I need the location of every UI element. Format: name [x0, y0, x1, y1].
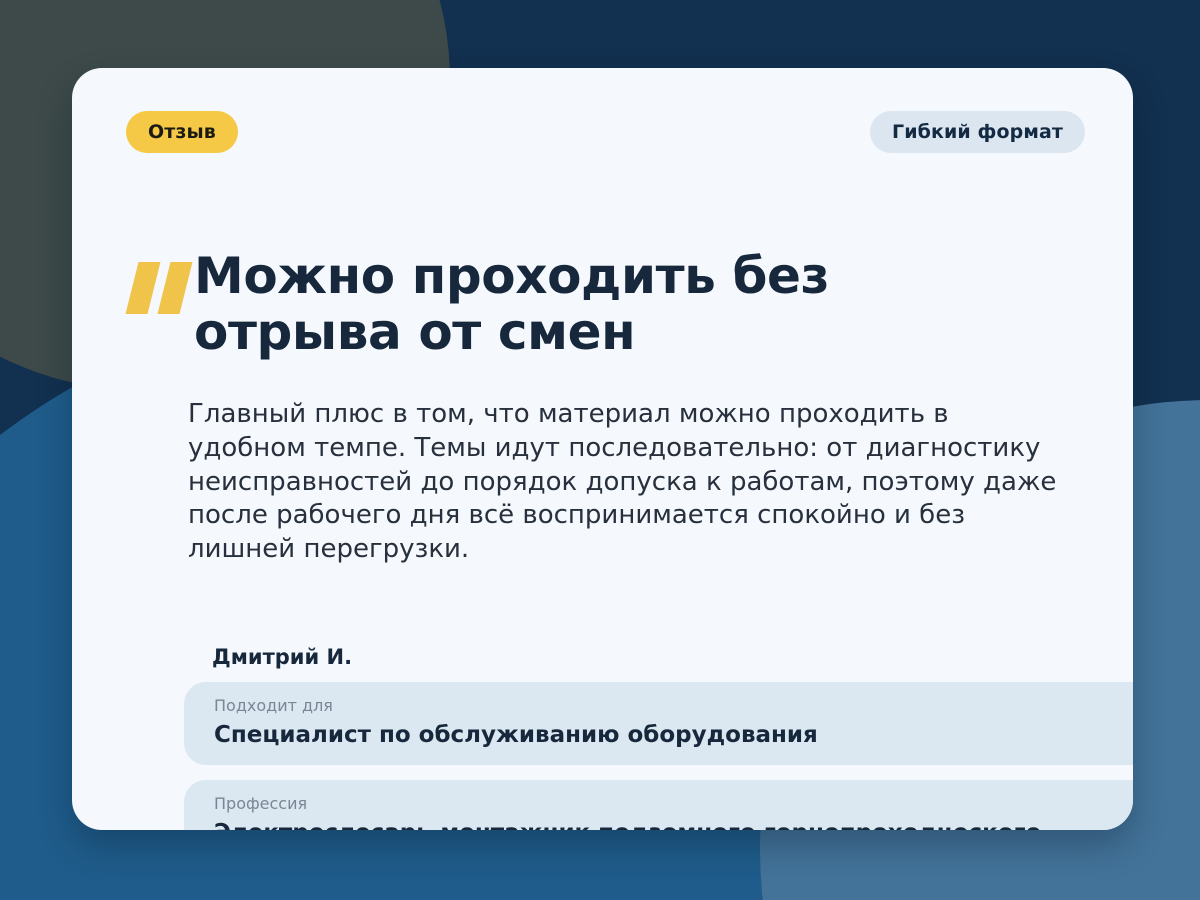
info-card-value: Электрослесарь-монтажник подземного горн…	[214, 819, 1133, 830]
testimonial-slide: Отзыв Гибкий формат Можно проходить без …	[0, 0, 1200, 900]
headline: Можно проходить без отрыва от смен	[194, 248, 954, 360]
badge-row: Отзыв Гибкий формат	[72, 110, 1133, 154]
testimonial-card: Отзыв Гибкий формат Можно проходить без …	[72, 68, 1133, 830]
info-card-value: Специалист по обслуживанию оборудования	[214, 721, 1133, 749]
quote-mark-icon	[126, 262, 194, 316]
info-card-profession: Профессия Электрослесарь-монтажник подзе…	[184, 780, 1133, 830]
info-card-label: Подходит для	[214, 696, 1133, 715]
info-card-label: Профессия	[214, 794, 1133, 813]
headline-row: Можно проходить без отрыва от смен	[126, 248, 1085, 360]
info-card-suitable-for: Подходит для Специалист по обслуживанию …	[184, 682, 1133, 765]
author-name: Дмитрий И.	[212, 645, 352, 669]
badge-flexible-format[interactable]: Гибкий формат	[870, 111, 1085, 153]
badge-review[interactable]: Отзыв	[126, 111, 238, 153]
review-body-text: Главный плюс в том, что материал можно п…	[188, 398, 1073, 567]
